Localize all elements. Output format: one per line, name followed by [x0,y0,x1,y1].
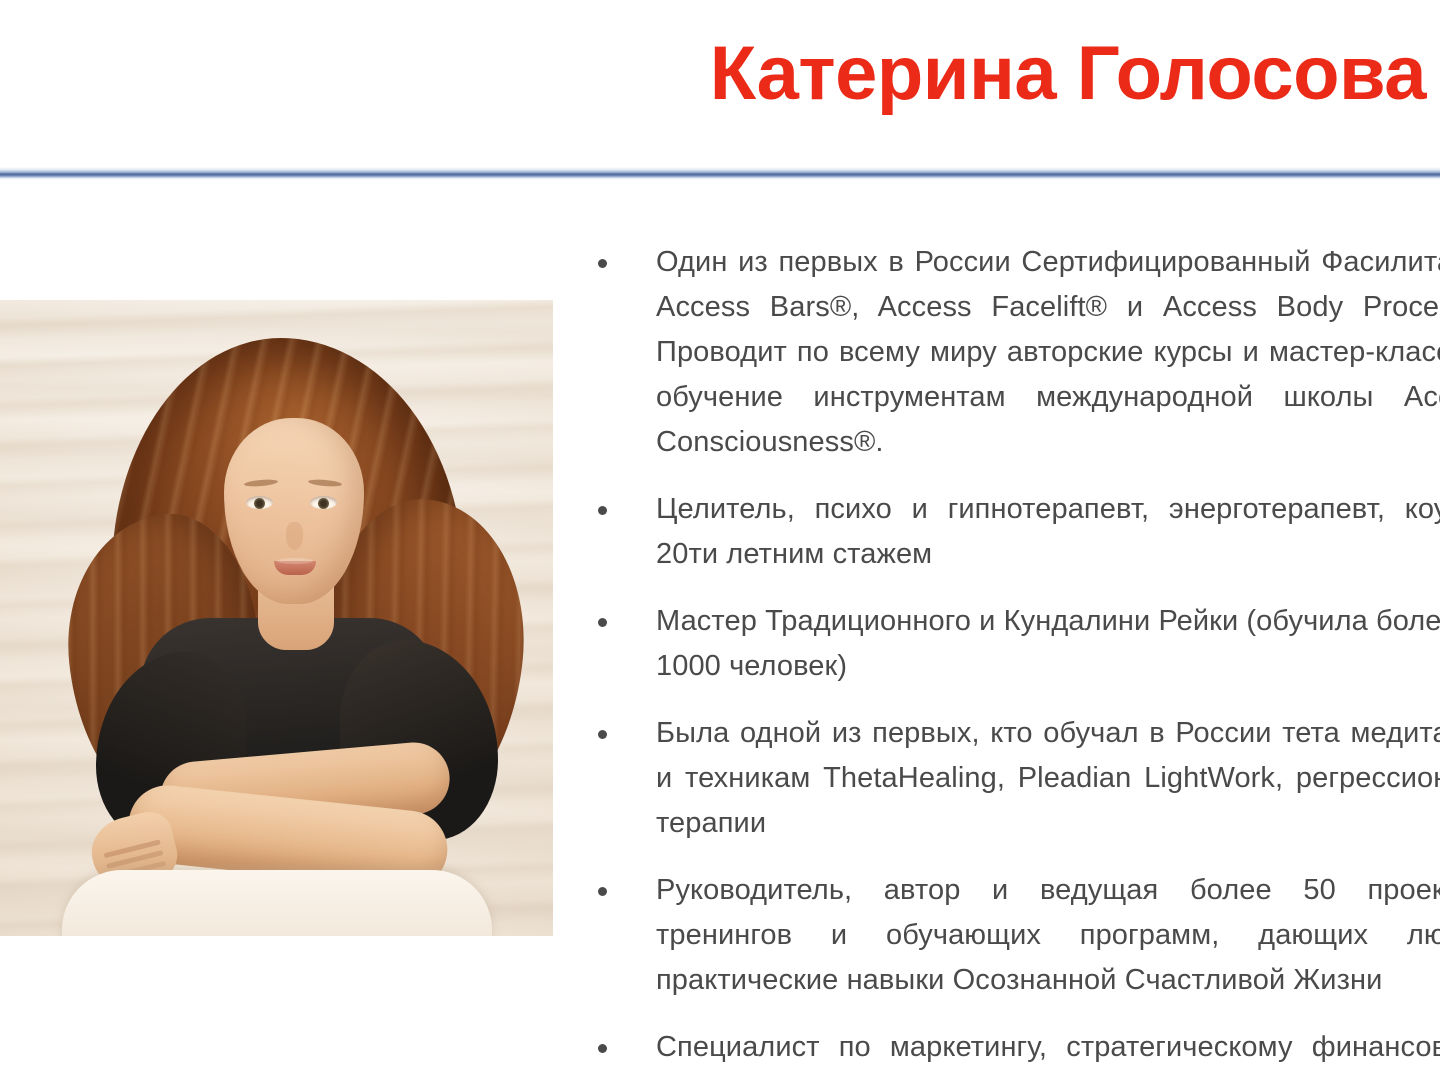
list-item: Один из первых в России Сертифицированны… [598,240,1440,465]
iris-left [254,498,265,509]
bullet-projects-trainings: Руководитель, автор и ведущая более 50 п… [656,868,1440,1003]
bullet-marketing-specialist: Специалист по маркетингу, стратегическом… [656,1025,1440,1080]
bullet-list: Один из первых в России Сертифицированны… [598,240,1440,1080]
portrait-photo [0,300,553,936]
bullet-theta-teaching: Была одной из первых, кто обучал в Росси… [656,711,1440,846]
list-item: Была одной из первых, кто обучал в Росси… [598,711,1440,846]
list-item: Руководитель, автор и ведущая более 50 п… [598,868,1440,1003]
eye-right [310,496,337,509]
bullet-access-facilitator: Один из первых в России Сертифицированны… [656,240,1440,465]
eyebrow-left [244,479,278,488]
list-item: Специалист по маркетингу, стратегическом… [598,1025,1440,1080]
bullet-dot-icon [598,259,607,268]
eyebrow-right [308,479,342,488]
mouth-smile [274,561,316,575]
bullet-dot-icon [598,506,607,515]
eye-left [246,496,273,509]
bullet-dot-icon [598,730,607,739]
header-divider-rule [0,167,1440,180]
bullet-dot-icon [598,618,607,627]
bullet-dot-icon [598,1044,607,1053]
nose [286,522,303,550]
list-item: Целитель, психо и гипнотерапевт, энергот… [598,487,1440,577]
list-item: Мастер Традиционного и Кундалини Рейки (… [598,599,1440,689]
bullet-reiki-master: Мастер Традиционного и Кундалини Рейки (… [656,599,1440,689]
page-title: Катерина Голосова [710,36,1426,112]
bullet-dot-icon [598,887,607,896]
table-edge [62,870,492,936]
presentation-slide: Катерина Голосова [0,0,1440,1080]
bullet-healer-coach: Целитель, психо и гипнотерапевт, энергот… [656,487,1440,577]
slide-header: Катерина Голосова [0,0,1440,160]
iris-right [318,498,329,509]
